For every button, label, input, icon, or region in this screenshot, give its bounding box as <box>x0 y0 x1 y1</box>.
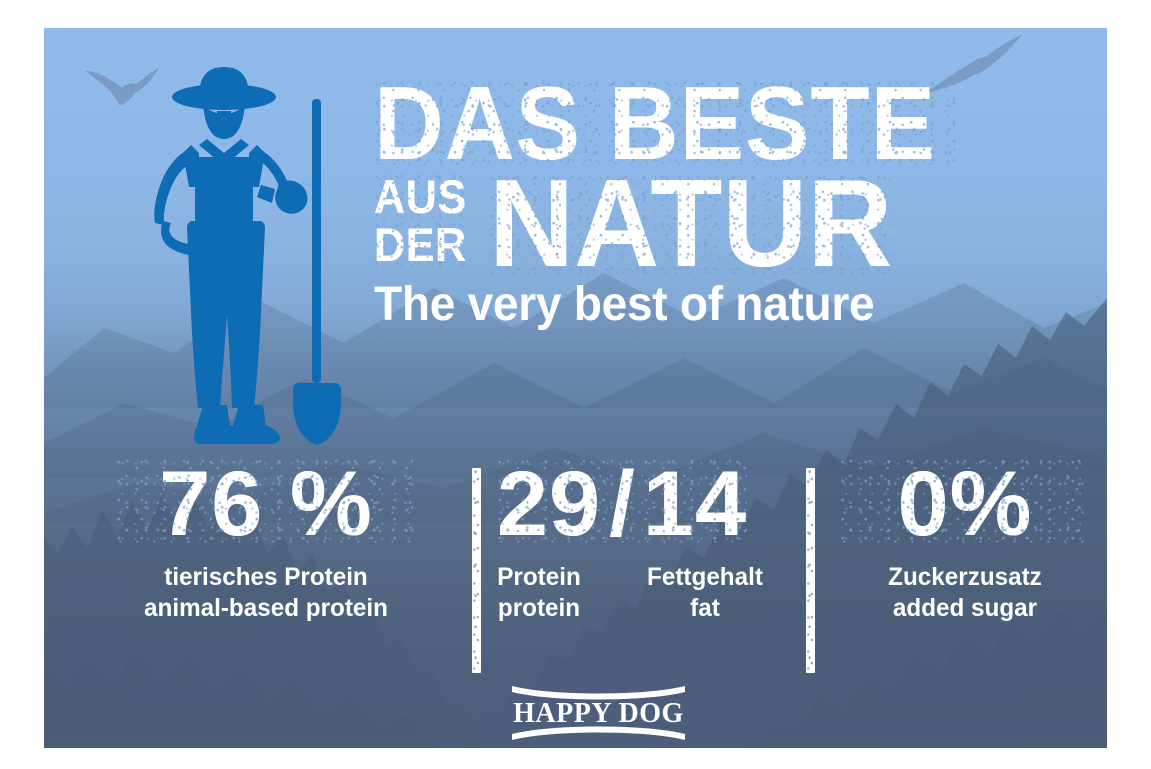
stat-label-de: tierisches Protein <box>121 562 412 593</box>
stat-label-en: animal-based protein <box>121 593 412 624</box>
stat-label-de: Zuckerzusatz <box>844 562 1087 593</box>
farmer-with-shovel-icon <box>129 53 369 453</box>
stat-label-en: protein <box>481 593 597 624</box>
stat-value-separator: / <box>601 458 643 550</box>
stat-label-de: Protein <box>481 562 597 593</box>
stat-labels: Protein protein Fettgehalt fat <box>468 562 776 623</box>
logo-wordmark: HAPPY DOG <box>513 698 684 729</box>
stat-value-protein: 29 <box>497 458 601 550</box>
stat-value: 76 % <box>116 458 416 550</box>
stat-value-fat: 14 <box>643 458 747 550</box>
stat-label-col-fat: Fettgehalt fat <box>645 562 765 623</box>
stat-label-en: added sugar <box>844 593 1087 624</box>
stat-labels: tierisches Protein animal-based protein <box>116 562 416 623</box>
stats-row: 76 % tierisches Protein animal-based pro… <box>100 448 1060 663</box>
happy-dog-banner-logo: HAPPY DOG <box>506 678 691 748</box>
headline-word-aus: AUS <box>374 173 467 221</box>
headline-word-der: DER <box>374 221 467 269</box>
stat-animal-protein: 76 % tierisches Protein animal-based pro… <box>116 458 416 623</box>
headline-block: DAS BESTE AUS DER NATUR The very best of… <box>374 80 999 329</box>
poster-root: DAS BESTE AUS DER NATUR The very best of… <box>0 0 1151 769</box>
stat-divider <box>806 468 815 673</box>
stat-added-sugar: 0% Zuckerzusatz added sugar <box>840 458 1090 623</box>
headline-subtitle: The very best of nature <box>374 281 974 329</box>
stat-label-en: fat <box>647 593 763 624</box>
artwork-frame: DAS BESTE AUS DER NATUR The very best of… <box>44 28 1107 748</box>
headline-row-natur: AUS DER NATUR <box>374 173 999 275</box>
headline-small-stack: AUS DER <box>374 173 475 275</box>
stat-protein-fat: 29 / 14 Protein protein Fettgehalt fat <box>468 458 776 623</box>
stat-label-de: Fettgehalt <box>647 562 763 593</box>
headline-word-natur: NATUR <box>489 174 893 276</box>
stat-label-col-protein: Protein protein <box>479 562 599 623</box>
stat-value: 0% <box>840 458 1090 550</box>
stat-labels: Zuckerzusatz added sugar <box>840 562 1090 623</box>
stat-value-pair: 29 / 14 <box>468 458 776 550</box>
